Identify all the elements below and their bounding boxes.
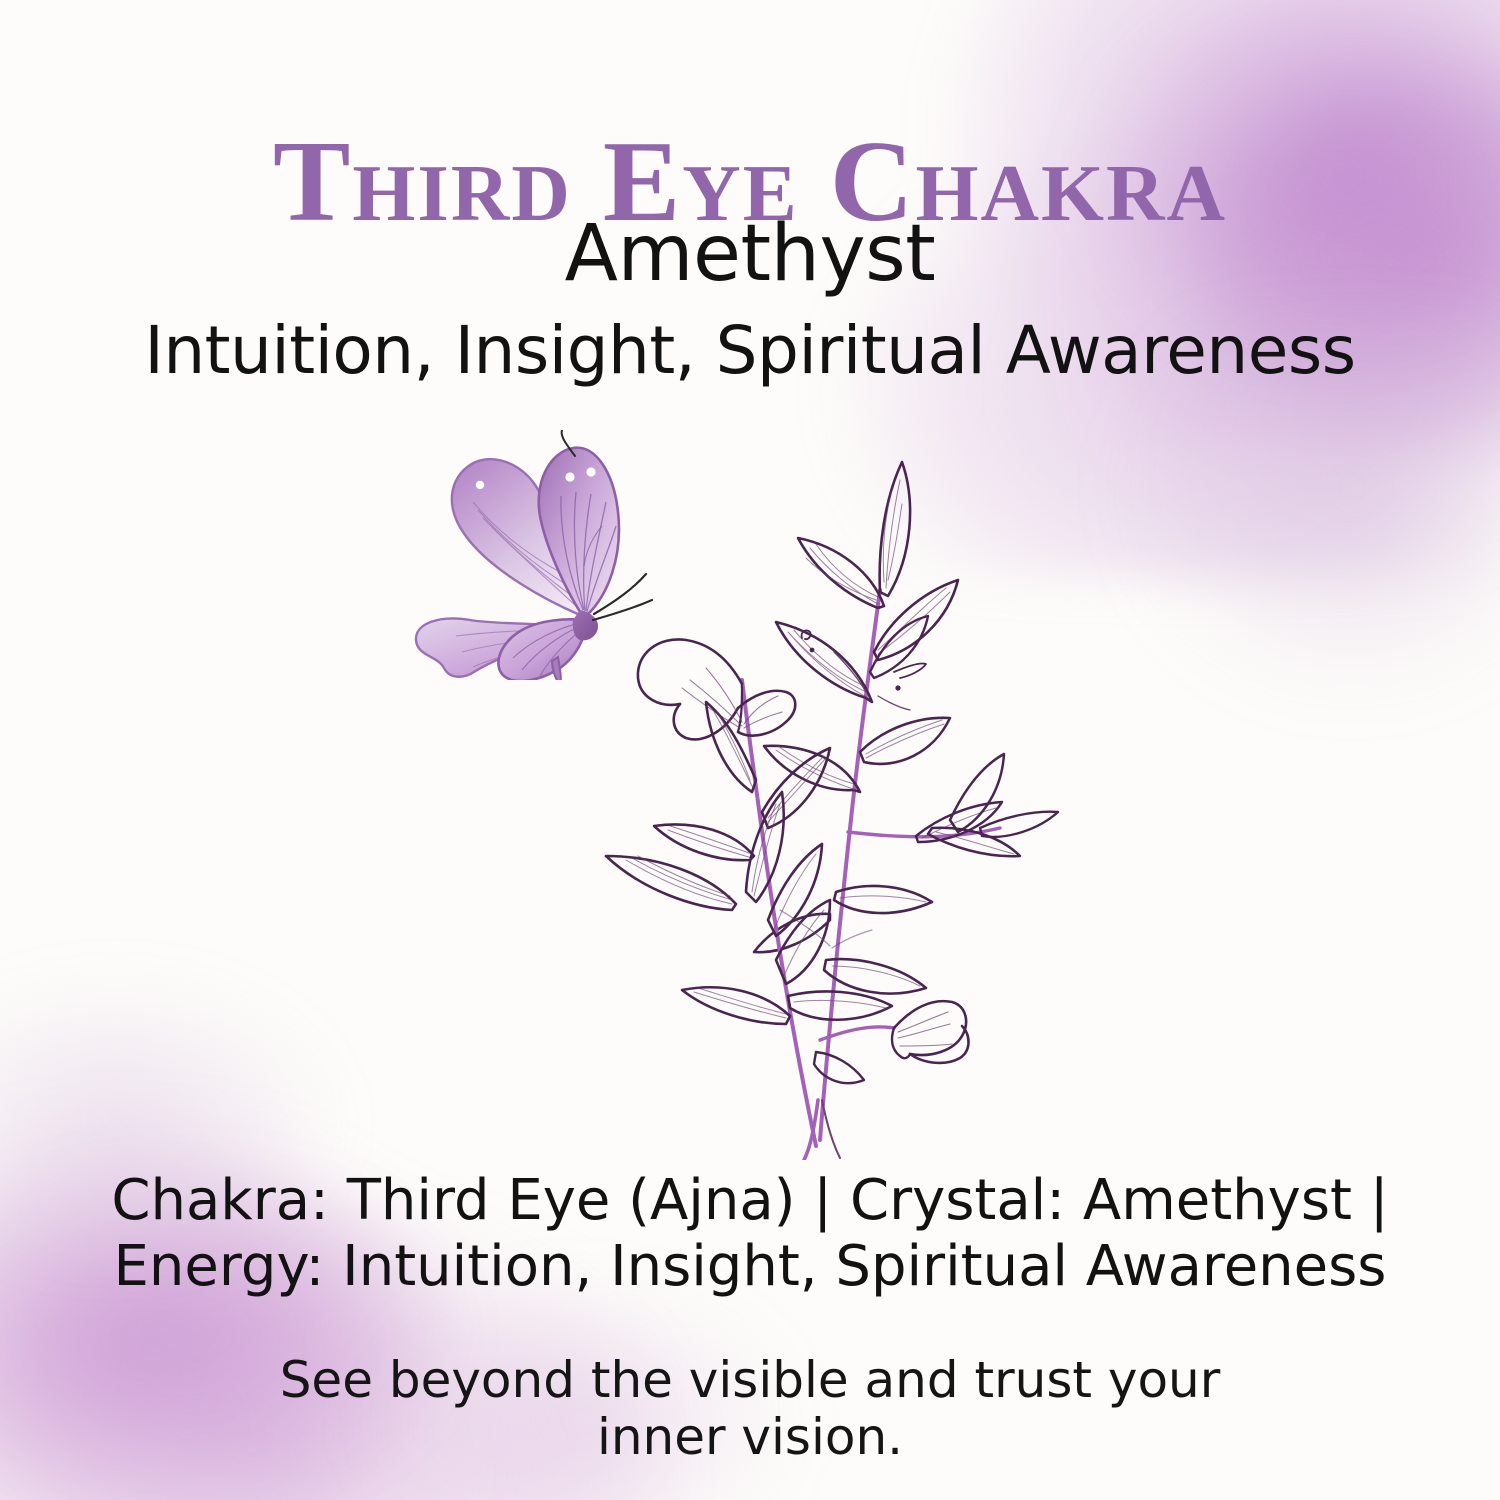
crystal-name: Amethyst — [0, 215, 1500, 293]
detail-line-2: Energy: Intuition, Insight, Spiritual Aw… — [40, 1234, 1460, 1300]
tagline-block: See beyond the visible and trust your in… — [90, 1352, 1410, 1466]
text-content: Third Eye Chakra Amethyst Intuition, Ins… — [0, 0, 1500, 1500]
detail-block: Chakra: Third Eye (Ajna) | Crystal: Amet… — [40, 1168, 1460, 1299]
tagline-line-2: inner vision. — [90, 1409, 1410, 1466]
detail-line-1: Chakra: Third Eye (Ajna) | Crystal: Amet… — [40, 1168, 1460, 1234]
energy-subtitle: Intuition, Insight, Spiritual Awareness — [0, 318, 1500, 384]
tagline-line-1: See beyond the visible and trust your — [90, 1352, 1410, 1409]
poster-canvas: Third Eye Chakra Amethyst Intuition, Ins… — [0, 0, 1500, 1500]
